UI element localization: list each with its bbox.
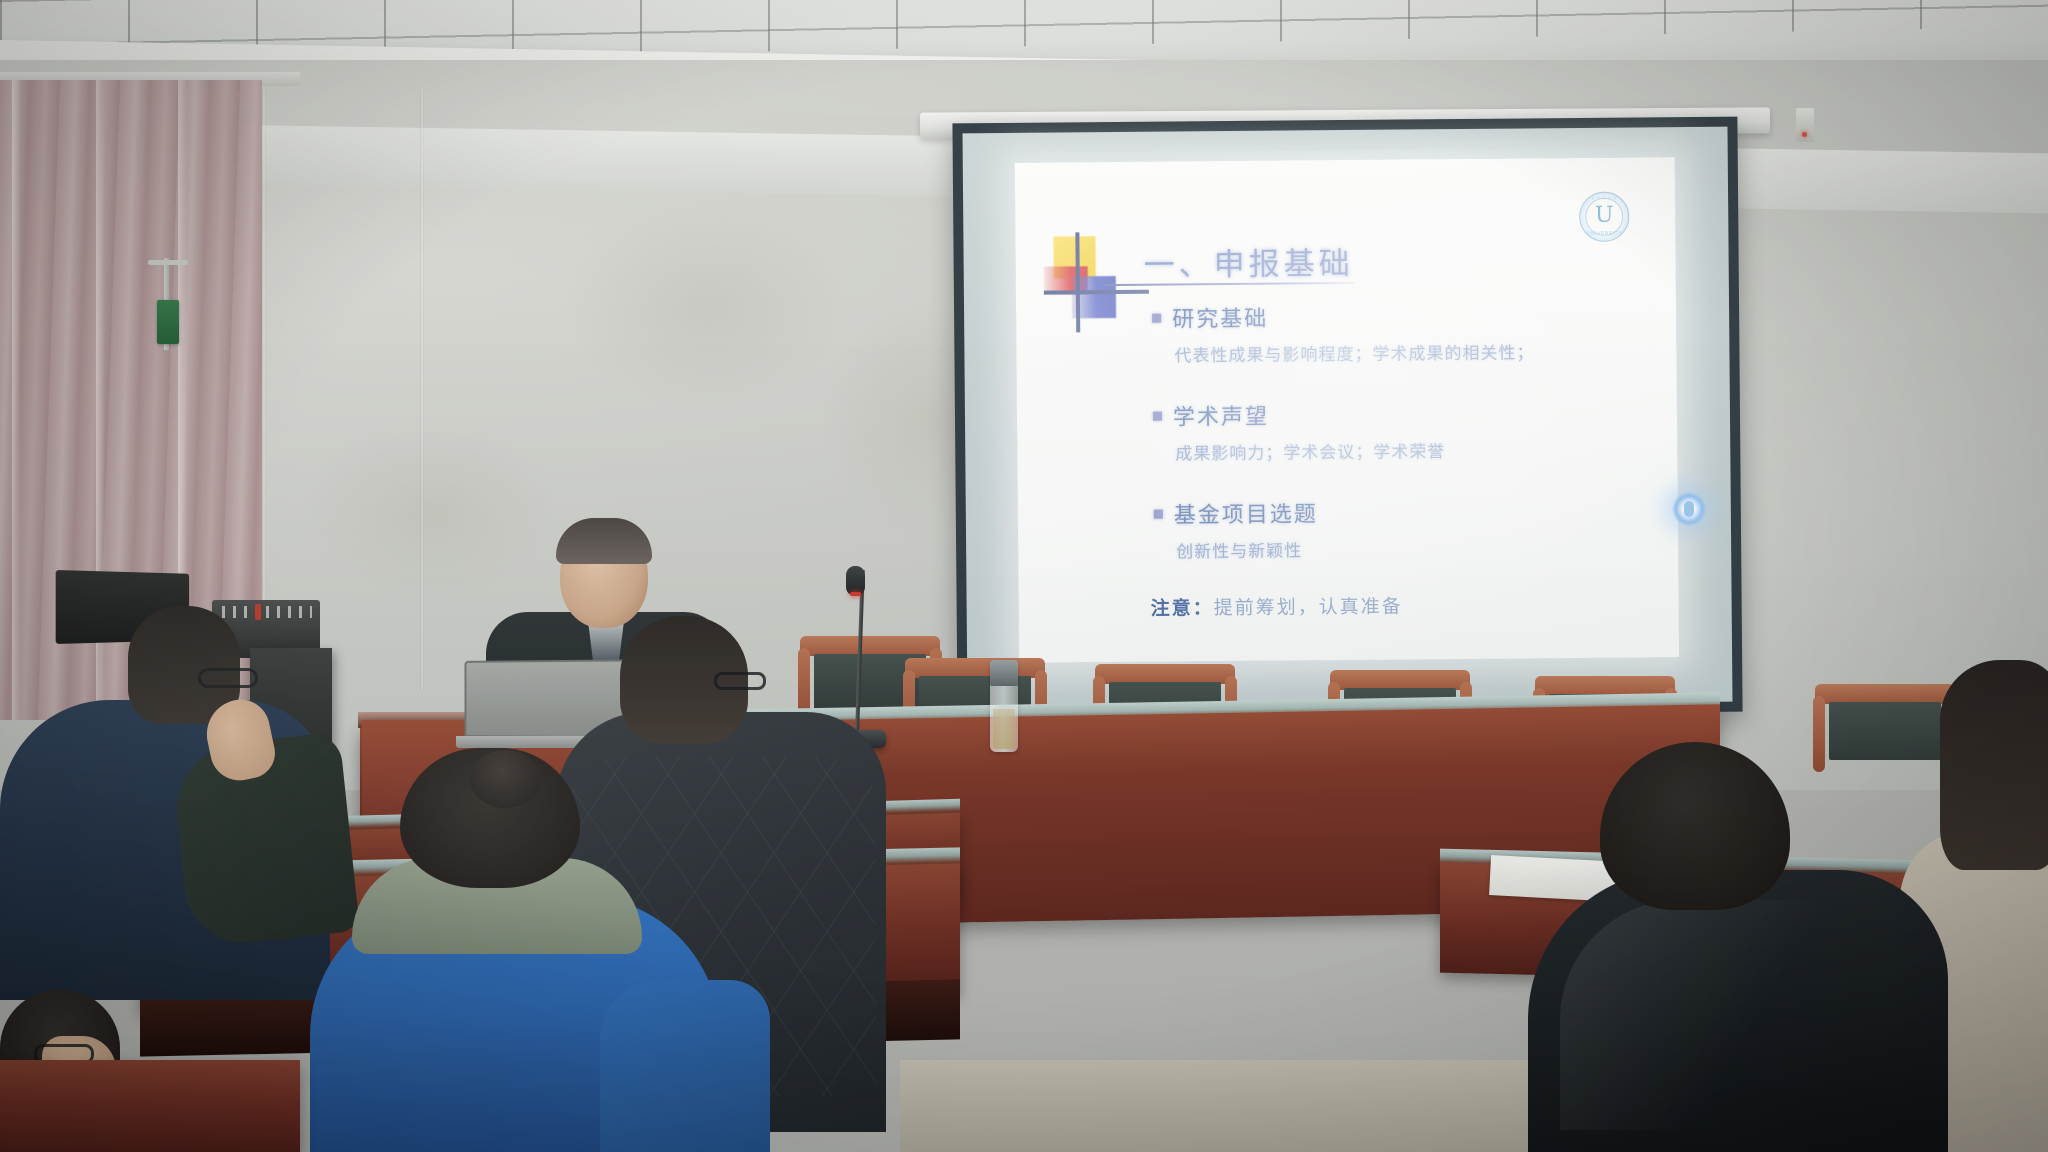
- water-bottle: [990, 660, 1018, 752]
- conference-room-photo: ○ ○ ○ ○ ○ U UNIVERSITY 一、申报基础: [0, 0, 2048, 1152]
- conference-chair: [1815, 684, 1955, 794]
- slide-title: 一、申报基础: [1143, 238, 1353, 285]
- note-body: 提前筹划，认真准备: [1214, 596, 1403, 620]
- university-logo-icon: ○ ○ ○ ○ ○ U UNIVERSITY: [1579, 192, 1629, 242]
- jacket-sheen: [1560, 900, 1890, 1130]
- attendee-cream-sweater-hair: [1940, 660, 2048, 870]
- mixer-knobs-icon: [222, 606, 312, 618]
- slide-decoration: [1043, 232, 1149, 333]
- floor: [900, 1060, 1600, 1152]
- indicator-core: [1684, 501, 1694, 517]
- chair-frame: [1815, 684, 1955, 704]
- projection-screen: ○ ○ ○ ○ ○ U UNIVERSITY 一、申报基础: [952, 117, 1742, 719]
- attendee-blue-puffer-arm: [600, 980, 770, 1152]
- hair-bun: [470, 750, 540, 808]
- chair-frame: [905, 658, 1045, 678]
- mixer-fader-icon: [255, 604, 261, 620]
- chair-frame: [1095, 664, 1235, 684]
- bullet-detail: 代表性成果与影响程度；学术成果的相关性；: [1174, 337, 1662, 366]
- bullet-heading: 学术声望: [1173, 399, 1269, 432]
- foreground-bench: [0, 1060, 300, 1152]
- list-item: 学术声望 成果影响力；学术会议；学术荣誉: [1153, 395, 1664, 464]
- list-item: 研究基础 代表性成果与影响程度；学术成果的相关性；: [1152, 297, 1663, 366]
- slide-note: 注意：提前筹划，认真准备: [1151, 592, 1403, 621]
- curtain-fold: [12, 80, 21, 720]
- logo-arc-top: ○ ○ ○ ○ ○: [1580, 196, 1628, 202]
- bullet-heading-row: 基金项目选题: [1154, 493, 1664, 529]
- glasses-icon: [198, 668, 258, 688]
- screen-surface: ○ ○ ○ ○ ○ U UNIVERSITY 一、申报基础: [963, 127, 1733, 709]
- chair-pad: [1829, 702, 1941, 760]
- note-label: 注意：: [1151, 597, 1214, 620]
- blue-indicator-light-icon: [1672, 492, 1706, 526]
- wall-fixture-arm: [148, 260, 188, 265]
- bullet-heading-row: 研究基础: [1152, 297, 1662, 333]
- bullet-detail: 成果影响力；学术会议；学术荣誉: [1175, 435, 1663, 464]
- microphone-led-icon: [850, 592, 861, 596]
- deco-horizontal-bar: [1044, 290, 1149, 295]
- bullet-heading: 基金项目选题: [1174, 496, 1318, 529]
- power-led-icon: [1802, 132, 1807, 137]
- wall-panel-seam: [420, 90, 424, 690]
- screen-bracket: [1796, 108, 1814, 142]
- glasses-icon: [714, 672, 766, 690]
- bullet-heading-row: 学术声望: [1153, 395, 1663, 431]
- logo-arc-bottom: UNIVERSITY: [1580, 231, 1628, 237]
- presentation-slide: ○ ○ ○ ○ ○ U UNIVERSITY 一、申报基础: [1015, 157, 1679, 663]
- bullet-heading: 研究基础: [1172, 301, 1268, 334]
- bullet-square-icon: [1152, 313, 1161, 322]
- chair-frame: [1330, 670, 1470, 690]
- chair-arm: [1813, 696, 1825, 772]
- list-item: 基金项目选题 创新性与新颖性: [1154, 493, 1665, 562]
- slide-bullet-list: 研究基础 代表性成果与影响程度；学术成果的相关性； 学术声望 成果影响力；学术会…: [1152, 297, 1665, 595]
- bullet-square-icon: [1154, 509, 1163, 518]
- chair-frame: [800, 636, 940, 656]
- bottle-cap: [990, 660, 1018, 686]
- bottle-liquid: [993, 709, 1015, 749]
- bullet-square-icon: [1153, 411, 1162, 420]
- logo-letter: U: [1580, 205, 1628, 227]
- green-wall-device-icon: [157, 300, 179, 344]
- bullet-detail: 创新性与新颖性: [1176, 533, 1664, 562]
